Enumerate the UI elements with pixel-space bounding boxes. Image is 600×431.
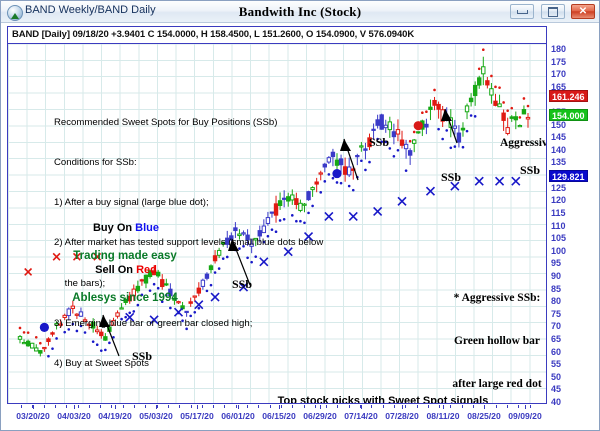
stop-dot bbox=[39, 342, 42, 345]
candle-bar bbox=[522, 110, 525, 114]
candle-bar bbox=[376, 120, 379, 126]
date-minor-tick bbox=[236, 405, 237, 408]
date-tick-label: 07/28/20 bbox=[385, 411, 418, 421]
price-tick: 140 bbox=[551, 146, 566, 155]
price-tick: 105 bbox=[551, 234, 566, 243]
candle-bar bbox=[347, 167, 350, 175]
stop-dot bbox=[328, 173, 331, 176]
date-minor-tick bbox=[270, 405, 271, 408]
ssb-marker-2: SSb bbox=[232, 277, 252, 292]
price-tag-blue: 129.821 bbox=[549, 170, 588, 182]
pitch-line-1: Top stock picks with Sweet Spot signals bbox=[263, 394, 503, 404]
date-minor-tick bbox=[100, 405, 101, 408]
candle-bar bbox=[425, 124, 428, 127]
date-minor-tick bbox=[179, 405, 180, 408]
date-tick-mark bbox=[197, 405, 198, 409]
buy-signal-dot bbox=[40, 323, 49, 332]
maximize-button[interactable] bbox=[541, 4, 565, 19]
stop-dot bbox=[470, 114, 473, 117]
price-tick: 40 bbox=[551, 398, 561, 407]
date-minor-tick bbox=[134, 405, 135, 408]
candle-bar bbox=[323, 164, 326, 167]
date-minor-tick bbox=[111, 405, 112, 408]
price-tick: 45 bbox=[551, 385, 561, 394]
date-tick-mark bbox=[525, 405, 526, 409]
candle-bar bbox=[465, 106, 468, 112]
price-tick: 150 bbox=[551, 121, 566, 130]
price-tick: 70 bbox=[551, 322, 561, 331]
stop-dot bbox=[437, 128, 440, 131]
date-minor-tick bbox=[123, 405, 124, 408]
date-tick-label: 04/19/20 bbox=[98, 411, 131, 421]
date-minor-tick bbox=[213, 405, 214, 408]
price-tick: 75 bbox=[551, 310, 561, 319]
ssb-marker-1: SSb bbox=[132, 349, 152, 364]
blue-x-marker bbox=[374, 207, 382, 215]
stop-dot bbox=[348, 185, 351, 188]
date-tick-mark bbox=[238, 405, 239, 409]
date-minor-tick bbox=[78, 405, 79, 408]
stop-dot bbox=[523, 97, 526, 100]
date-tick-label: 06/15/20 bbox=[262, 411, 295, 421]
date-tick-label: 04/03/20 bbox=[57, 411, 90, 421]
candle-bar bbox=[526, 117, 529, 119]
chart-canvas[interactable]: BAND [Daily] 09/18/20 +3.9401 C 154.0000… bbox=[7, 26, 547, 404]
tagline-line-1: Trading made easy bbox=[50, 249, 200, 263]
candle-bar bbox=[18, 337, 21, 340]
stop-dot bbox=[441, 138, 444, 141]
candle-bar bbox=[400, 140, 403, 145]
price-tick: 145 bbox=[551, 133, 566, 142]
date-minor-tick bbox=[349, 405, 350, 408]
date-tick-label: 06/29/20 bbox=[303, 411, 336, 421]
candle-bar bbox=[384, 125, 387, 127]
stop-dot bbox=[340, 182, 343, 185]
blue-x-marker bbox=[426, 187, 434, 195]
stop-dot bbox=[352, 189, 355, 192]
stop-dot bbox=[397, 149, 400, 152]
candle-bar bbox=[356, 156, 359, 157]
candle-bar bbox=[433, 100, 436, 105]
date-tick-label: 08/25/20 bbox=[467, 411, 500, 421]
date-minor-tick bbox=[281, 405, 282, 408]
stop-dot bbox=[421, 111, 424, 114]
candle-bar bbox=[514, 117, 517, 120]
candle-bar bbox=[26, 341, 29, 346]
price-tick: 95 bbox=[551, 259, 561, 268]
date-minor-tick bbox=[44, 405, 45, 408]
price-tag-red: 161.246 bbox=[549, 90, 588, 102]
candle-bar bbox=[335, 160, 338, 165]
candle-bar bbox=[486, 81, 489, 85]
candle-bar bbox=[506, 128, 509, 134]
stop-dot bbox=[364, 169, 367, 172]
blue-x-marker bbox=[349, 212, 357, 220]
candle-bar bbox=[39, 351, 42, 354]
stop-dot bbox=[482, 48, 485, 51]
stop-dot bbox=[498, 86, 501, 89]
date-minor-tick bbox=[383, 405, 384, 408]
ssb-marker-4: SSb bbox=[369, 135, 389, 150]
candle-bar bbox=[364, 149, 367, 150]
date-tick-label: 06/01/20 bbox=[221, 411, 254, 421]
date-minor-tick bbox=[168, 405, 169, 408]
window-controls: ✕ bbox=[508, 4, 595, 20]
stop-dot bbox=[336, 181, 339, 184]
candle-bar bbox=[339, 159, 342, 165]
date-minor-tick bbox=[145, 405, 146, 408]
candle-bar bbox=[30, 343, 33, 348]
blue-x-marker bbox=[512, 177, 520, 185]
date-minor-tick bbox=[473, 405, 474, 408]
candle-bar bbox=[510, 117, 513, 119]
candle-bar bbox=[47, 339, 50, 342]
stop-dot bbox=[433, 89, 436, 92]
candle-bar bbox=[461, 128, 464, 130]
price-tick: 85 bbox=[551, 285, 561, 294]
maximize-icon bbox=[548, 7, 558, 17]
stop-dot bbox=[510, 107, 513, 110]
date-minor-tick bbox=[530, 405, 531, 408]
price-tick: 80 bbox=[551, 297, 561, 306]
date-minor-tick bbox=[55, 405, 56, 408]
date-tick-label: 09/09/20 bbox=[508, 411, 541, 421]
stop-dot bbox=[35, 336, 38, 339]
stop-dot bbox=[490, 75, 493, 78]
candle-bar bbox=[43, 347, 46, 348]
date-minor-tick bbox=[21, 405, 22, 408]
date-minor-tick bbox=[292, 405, 293, 408]
date-tick-label: 05/03/20 bbox=[139, 411, 172, 421]
date-minor-tick bbox=[202, 405, 203, 408]
aggressive-note-2: Green hollow bar bbox=[422, 334, 547, 348]
date-tick-mark bbox=[115, 405, 116, 409]
candle-bar bbox=[437, 104, 440, 109]
stop-dot bbox=[494, 86, 497, 89]
candle-bar bbox=[408, 151, 411, 156]
stop-dot bbox=[506, 109, 509, 112]
price-tick: 115 bbox=[551, 209, 566, 218]
price-tick: 170 bbox=[551, 70, 566, 79]
date-minor-tick bbox=[66, 405, 67, 408]
candle-bar bbox=[372, 129, 375, 130]
candle-bar bbox=[327, 158, 330, 162]
date-minor-tick bbox=[371, 405, 372, 408]
stop-dot bbox=[519, 116, 522, 119]
candle-bar bbox=[469, 98, 472, 101]
aggressive-ssb-marker: SSb bbox=[520, 163, 540, 178]
blue-x-marker bbox=[475, 177, 483, 185]
minimize-button[interactable] bbox=[510, 4, 534, 19]
date-tick-mark bbox=[74, 405, 75, 409]
date-tick-mark bbox=[402, 405, 403, 409]
title-bar: BAND Weekly/BAND Daily Bandwith Inc (Sto… bbox=[1, 1, 599, 23]
marketing-pitch: Top stock picks with Sweet Spot signals … bbox=[263, 365, 503, 404]
stop-dot bbox=[466, 130, 469, 133]
candle-bar bbox=[392, 132, 395, 137]
ssb-conditions-sub: Conditions for SSb: bbox=[54, 156, 323, 169]
date-minor-tick bbox=[507, 405, 508, 408]
stop-dot bbox=[360, 159, 363, 162]
date-minor-tick bbox=[496, 405, 497, 408]
candle-bar bbox=[502, 113, 505, 120]
stop-dot bbox=[449, 146, 452, 149]
stop-dot bbox=[368, 161, 371, 164]
aggressive-marker: Aggressive bbox=[500, 137, 547, 149]
blue-x-marker bbox=[398, 197, 406, 205]
minimize-icon bbox=[517, 10, 528, 14]
candle-bar bbox=[453, 126, 456, 128]
date-minor-tick bbox=[32, 405, 33, 408]
candle-bar bbox=[490, 89, 493, 95]
candle-bar bbox=[380, 115, 383, 129]
date-tick-mark bbox=[361, 405, 362, 409]
price-tick: 65 bbox=[551, 335, 561, 344]
stop-dot bbox=[19, 327, 22, 330]
date-minor-tick bbox=[450, 405, 451, 408]
price-tick: 120 bbox=[551, 196, 566, 205]
candle-bar bbox=[429, 107, 432, 109]
date-tick-label: 05/17/20 bbox=[180, 411, 213, 421]
date-minor-tick bbox=[191, 405, 192, 408]
stop-dot bbox=[324, 180, 327, 183]
candle-bar bbox=[457, 133, 460, 142]
date-tick-mark bbox=[320, 405, 321, 409]
candle-bar bbox=[22, 343, 25, 344]
candle-bar bbox=[473, 85, 476, 95]
red-x-marker bbox=[25, 269, 32, 276]
stop-dot bbox=[27, 331, 30, 334]
stop-dot bbox=[409, 140, 412, 143]
date-minor-tick bbox=[428, 405, 429, 408]
price-tick: 60 bbox=[551, 348, 561, 357]
stop-dot bbox=[474, 115, 477, 118]
date-minor-tick bbox=[360, 405, 361, 408]
date-minor-tick bbox=[315, 405, 316, 408]
candle-bar bbox=[518, 126, 521, 127]
date-axis: 03/20/2004/03/2004/19/2005/03/2005/17/20… bbox=[7, 405, 547, 429]
ssb-marker-3: SSb bbox=[441, 170, 461, 185]
candle-bar bbox=[388, 122, 391, 130]
candle-bar bbox=[343, 167, 346, 175]
price-tick: 100 bbox=[551, 247, 566, 256]
stop-dot bbox=[502, 101, 505, 104]
stop-dot bbox=[454, 145, 457, 148]
price-tick: 50 bbox=[551, 373, 561, 382]
tagline-line-2: Ablesys since 1994 bbox=[50, 291, 200, 305]
price-tick: 55 bbox=[551, 360, 561, 369]
candle-bar bbox=[331, 152, 334, 156]
stop-dot bbox=[405, 169, 408, 172]
date-tick-mark bbox=[443, 405, 444, 409]
date-tick-mark bbox=[279, 405, 280, 409]
candle-bar bbox=[404, 144, 407, 148]
blue-x-marker bbox=[325, 212, 333, 220]
close-button[interactable]: ✕ bbox=[571, 4, 595, 19]
brand-tagline: Trading made easy Ablesys since 1994 bbox=[50, 221, 200, 333]
candle-bar bbox=[413, 140, 416, 143]
candle-bar bbox=[498, 104, 501, 107]
date-minor-tick bbox=[326, 405, 327, 408]
date-tick-label: 08/11/20 bbox=[427, 411, 460, 421]
price-axis: 1801751701651601551501451401351301251201… bbox=[549, 26, 595, 404]
stop-dot bbox=[332, 177, 335, 180]
date-tick-label: 07/14/20 bbox=[344, 411, 377, 421]
blue-x-marker bbox=[496, 177, 504, 185]
candle-bar bbox=[396, 130, 399, 134]
stop-dot bbox=[393, 155, 396, 158]
date-minor-tick bbox=[417, 405, 418, 408]
candle-bar bbox=[478, 78, 481, 85]
application-window: BAND Weekly/BAND Daily Bandwith Inc (Sto… bbox=[0, 0, 600, 431]
date-minor-tick bbox=[518, 405, 519, 408]
stop-dot bbox=[413, 131, 416, 134]
price-tag-green: 154.000 bbox=[549, 109, 588, 121]
stop-dot bbox=[47, 355, 50, 358]
aggressive-note-1: * Aggressive SSb: bbox=[422, 291, 547, 305]
price-tick: 135 bbox=[551, 158, 566, 167]
stop-dot bbox=[462, 146, 465, 149]
stop-dot bbox=[23, 331, 26, 334]
stop-dot bbox=[527, 105, 530, 108]
sell-signal-dot bbox=[414, 121, 423, 130]
candle-bar bbox=[494, 101, 497, 105]
stop-dot bbox=[445, 129, 448, 132]
date-minor-tick bbox=[439, 405, 440, 408]
candle-bar bbox=[417, 132, 420, 133]
buy-signal-dot bbox=[332, 169, 341, 178]
date-tick-label: 03/20/20 bbox=[16, 411, 49, 421]
price-tick: 110 bbox=[551, 222, 566, 231]
date-minor-tick bbox=[462, 405, 463, 408]
price-tick: 180 bbox=[551, 45, 566, 54]
price-tick: 90 bbox=[551, 272, 561, 281]
ssb-conditions-title: Recommended Sweet Spots for Buy Position… bbox=[54, 116, 323, 129]
date-minor-tick bbox=[484, 405, 485, 408]
date-minor-tick bbox=[89, 405, 90, 408]
stop-dot bbox=[478, 67, 481, 70]
candle-bar bbox=[35, 348, 38, 351]
date-minor-tick bbox=[224, 405, 225, 408]
date-minor-tick bbox=[337, 405, 338, 408]
candle-bar bbox=[360, 146, 363, 147]
date-minor-tick bbox=[258, 405, 259, 408]
date-minor-tick bbox=[394, 405, 395, 408]
price-tick: 175 bbox=[551, 58, 566, 67]
close-icon: ✕ bbox=[572, 5, 594, 18]
date-minor-tick bbox=[247, 405, 248, 408]
date-minor-tick bbox=[405, 405, 406, 408]
candle-bar bbox=[482, 67, 485, 74]
date-minor-tick bbox=[304, 405, 305, 408]
price-tick: 125 bbox=[551, 184, 566, 193]
date-minor-tick bbox=[157, 405, 158, 408]
stop-dot bbox=[425, 110, 428, 113]
